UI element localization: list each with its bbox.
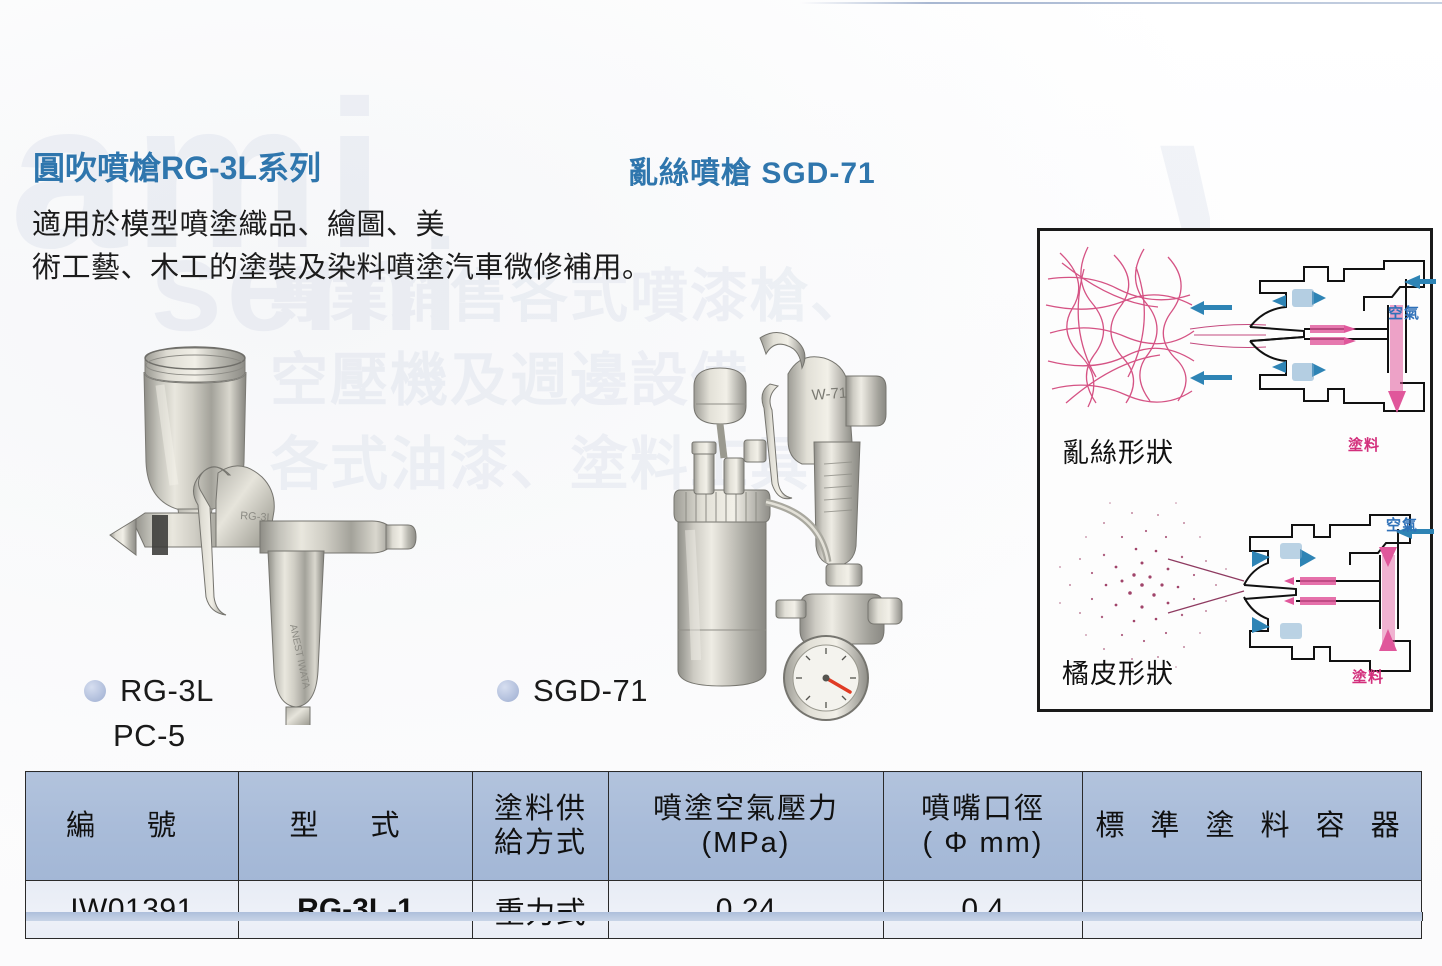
diagram-paint-label-bottom: 塗料 <box>1352 666 1384 687</box>
header-nozzle-line2: ( Φ mm) <box>885 826 1081 860</box>
diagram-caption-top: 亂絲形狀 <box>1062 431 1174 470</box>
header-supply-line1: 塗料供 <box>474 792 607 826</box>
table-header-model: 型 式 <box>239 772 473 881</box>
header-pressure-line2: (MPa) <box>610 826 882 860</box>
diagram-air-label-bottom: 空氣 <box>1386 514 1418 535</box>
bullet-dot-icon <box>497 680 519 702</box>
table-header-pressure: 噴塗空氣壓力 (MPa) <box>609 772 884 881</box>
diagram-spray-arrows-top <box>1190 283 1260 403</box>
product-name-rg3l: RG-3L <box>120 673 214 709</box>
table-header-container: 標 準 塗 料 容 器 <box>1083 772 1422 881</box>
table-row: IW01391 RG-3L-1 重力式 0.24 0.4 <box>26 881 1422 939</box>
table-header-supply: 塗料供 給方式 <box>473 772 609 881</box>
header-pressure-line1: 噴塗空氣壓力 <box>610 792 882 826</box>
right-product-title: 亂絲噴槍 SGD-71 <box>628 148 876 192</box>
diagram-air-label-top: 空氣 <box>1388 302 1420 323</box>
diagram-caption-bottom: 橘皮形狀 <box>1062 652 1174 691</box>
header-model-text: 型 式 <box>289 810 421 842</box>
header-code-text: 編 號 <box>66 810 198 842</box>
cell-nozzle: 0.4 <box>884 881 1083 939</box>
product-sublabel-pc5: PC-5 <box>113 718 186 754</box>
header-nozzle-line1: 噴嘴口徑 <box>885 792 1081 826</box>
table-header-nozzle: 噴嘴口徑 ( Φ mm) <box>884 772 1083 881</box>
cell-pressure: 0.24 <box>609 881 884 939</box>
catalog-page: ami semi 專業銷售各式噴漆槍、 空壓機及週邊設備 各式油漆、塗料工具 W… <box>0 0 1442 966</box>
table-header-row: 編 號 型 式 塗料供 給方式 噴塗空氣壓力 (MPa) 噴嘴口徑 ( Φ mm… <box>26 772 1422 881</box>
bullet-dot-icon <box>84 680 106 702</box>
table-header-code: 編 號 <box>26 772 239 881</box>
diagram-nozzle-cross-section-top <box>1240 245 1436 435</box>
description-line-1: 適用於模型噴塗織品、繪圖、美 <box>32 204 752 247</box>
product-description: 適用於模型噴塗織品、繪圖、美 術工藝、木工的塗裝及染料噴塗汽車微修補用。 <box>32 204 752 290</box>
description-line-2: 術工藝、木工的塗裝及染料噴塗汽車微修補用。 <box>32 247 752 290</box>
top-hairline <box>800 2 1442 4</box>
cell-code: IW01391 <box>26 881 239 939</box>
header-container-text: 標 準 塗 料 容 器 <box>1095 810 1408 842</box>
photo-rg3l-spray-gun: RG-3L ANEST IWATA <box>100 325 430 725</box>
photo-sgd71-spray-gun: W-71 <box>660 330 980 730</box>
product-label-rg3l: RG-3L <box>84 673 214 709</box>
cell-container <box>1083 881 1422 939</box>
table-bottom-strip <box>25 912 1423 921</box>
sgd71-body-marking: W-71 <box>811 385 848 404</box>
left-product-title: 圓吹噴槍RG-3L系列 <box>33 143 321 189</box>
product-name-sgd71: SGD-71 <box>533 673 648 709</box>
cell-model: RG-3L-1 <box>239 881 473 939</box>
cell-supply: 重力式 <box>473 881 609 939</box>
diagram-paint-label-top: 塗料 <box>1348 434 1380 455</box>
product-label-sgd71: SGD-71 <box>497 673 648 709</box>
spray-pattern-diagram-panel: 空氣 塗料 亂絲形狀 <box>1037 228 1433 712</box>
header-supply-line2: 給方式 <box>474 826 607 860</box>
